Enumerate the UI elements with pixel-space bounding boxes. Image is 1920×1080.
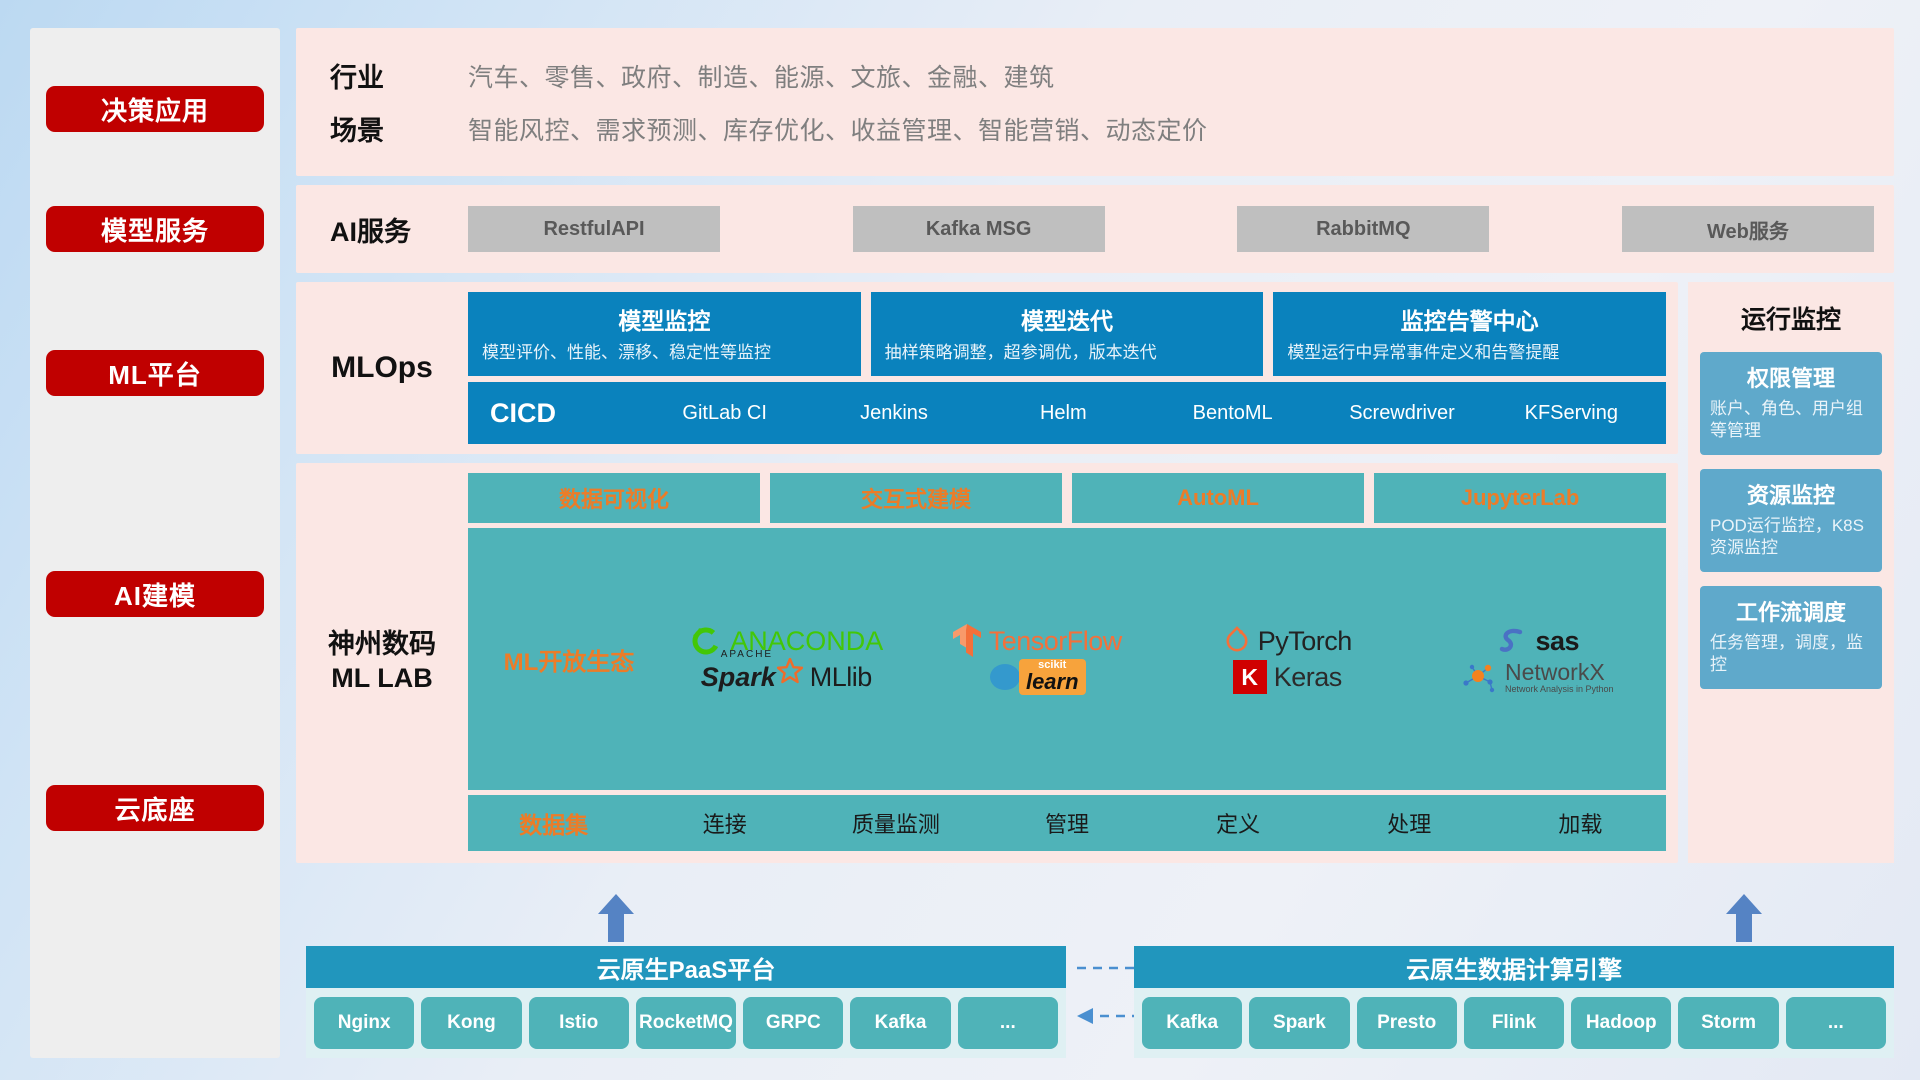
service-chip-kafka-msg[interactable]: Kafka MSG [853, 206, 1105, 252]
platform-left: MLOps 模型监控 模型评价、性能、漂移、稳定性等监控 模型迭代 抽样策略调整… [296, 282, 1678, 863]
main-column: 行业 汽车、零售、政府、制造、能源、文旅、金融、建筑 场景 智能风控、需求预测、… [296, 28, 1894, 1058]
scikit-learn-badge: scikit learn [1019, 659, 1086, 695]
logo-text: MLlib [810, 662, 872, 693]
engine-chip-presto[interactable]: Presto [1357, 997, 1457, 1049]
paas-chip-kafka[interactable]: Kafka [850, 997, 950, 1049]
cicd-label: CICD [490, 398, 640, 429]
card-desc: 账户、角色、用户组等管理 [1710, 398, 1872, 443]
logo-sas[interactable]: sas [1496, 625, 1579, 657]
paas-title: 云原生PaaS平台 [306, 946, 1066, 988]
ai-service-band: AI服务 RestfulAPI Kafka MSG RabbitMQ Web服务 [296, 185, 1894, 273]
tool-chip-data-visualization[interactable]: 数据可视化 [468, 473, 760, 523]
ml-lab-tool-row: 数据可视化 交互式建模 AutoML JupyterLab [468, 473, 1666, 523]
ml-open-ecosystem: ML开放生态 ANACONDA [468, 528, 1666, 790]
paas-chip-istio[interactable]: Istio [529, 997, 629, 1049]
sas-icon [1496, 625, 1528, 657]
dataset-item-quality-monitoring[interactable]: 质量监测 [810, 807, 981, 839]
paas-chip-grpc[interactable]: GRPC [743, 997, 843, 1049]
logo-text: PyTorch [1258, 626, 1352, 657]
rail-item-cloud-base[interactable]: 云底座 [46, 785, 264, 831]
mlops-label: MLOps [296, 292, 468, 444]
service-chip-rabbitmq[interactable]: RabbitMQ [1237, 206, 1489, 252]
anaconda-icon [689, 624, 723, 658]
scikit-blob-icon [988, 662, 1022, 692]
cicd-row: CICD GitLab CI Jenkins Helm BentoML Scre… [468, 382, 1666, 444]
card-title: 模型迭代 [885, 302, 1250, 336]
dataset-label: 数据集 [468, 806, 639, 840]
rail-label: 决策应用 [101, 91, 209, 128]
paas-chip-nginx[interactable]: Nginx [314, 997, 414, 1049]
ai-service-label: AI服务 [330, 210, 468, 249]
card-title: 模型监控 [482, 302, 847, 336]
paas-chip-rocketmq[interactable]: RocketMQ [636, 997, 736, 1049]
service-chip-web[interactable]: Web服务 [1622, 206, 1874, 252]
cicd-tool-kfserving[interactable]: KFServing [1487, 403, 1656, 424]
spark-text: Spark [701, 662, 776, 692]
decision-app-band: 行业 汽车、零售、政府、制造、能源、文旅、金融、建筑 场景 智能风控、需求预测、… [296, 28, 1894, 176]
engine-chip-storm[interactable]: Storm [1678, 997, 1778, 1049]
tool-chip-interactive-modeling[interactable]: 交互式建模 [770, 473, 1062, 523]
architecture-diagram: 决策应用 模型服务 ML平台 AI建模 云底座 行业 汽车、零售、政府、制造、能… [0, 0, 1920, 1080]
mlops-content: 模型监控 模型评价、性能、漂移、稳定性等监控 模型迭代 抽样策略调整，超参调优，… [468, 292, 1666, 444]
paas-chip-kong[interactable]: Kong [421, 997, 521, 1049]
scene-value: 智能风控、需求预测、库存优化、收益管理、智能营销、动态定价 [468, 111, 1208, 147]
rail-label: 模型服务 [101, 211, 209, 248]
rail-item-model-service[interactable]: 模型服务 [46, 206, 264, 252]
industry-label: 行业 [330, 56, 468, 95]
industry-row: 行业 汽车、零售、政府、制造、能源、文旅、金融、建筑 [330, 56, 1894, 95]
cloud-foundation-area: 云原生PaaS平台 Nginx Kong Istio RocketMQ GRPC… [296, 872, 1894, 1058]
monitoring-title: 运行监控 [1700, 300, 1882, 336]
logo-text: TensorFlow [989, 626, 1122, 657]
dataset-row: 数据集 连接 质量监测 管理 定义 处理 加载 [468, 795, 1666, 851]
networkx-subtitle: Network Analysis in Python [1505, 685, 1614, 694]
logo-text: sas [1535, 626, 1579, 657]
ecosystem-logo-grid: ANACONDA TensorFlow [664, 623, 1660, 695]
data-engine-chip-list: Kafka Spark Presto Flink Hadoop Storm ..… [1134, 988, 1894, 1058]
cicd-tool-bentoml[interactable]: BentoML [1148, 403, 1317, 424]
logo-text: Keras [1274, 662, 1342, 693]
logo-text: learn [1026, 671, 1079, 693]
mlops-band: MLOps 模型监控 模型评价、性能、漂移、稳定性等监控 模型迭代 抽样策略调整… [296, 282, 1678, 454]
card-desc: 模型评价、性能、漂移、稳定性等监控 [482, 342, 847, 364]
cicd-tool-screwdriver[interactable]: Screwdriver [1317, 403, 1486, 424]
logo-anaconda[interactable]: ANACONDA [689, 624, 883, 658]
engine-chip-spark[interactable]: Spark [1249, 997, 1349, 1049]
cicd-tool-gitlab-ci[interactable]: GitLab CI [640, 403, 809, 424]
cicd-tool-helm[interactable]: Helm [979, 403, 1148, 424]
mlops-card-alert-center[interactable]: 监控告警中心 模型运行中异常事件定义和告警提醒 [1273, 292, 1666, 376]
card-desc: POD运行监控，K8S资源监控 [1710, 515, 1872, 560]
card-desc: 模型运行中异常事件定义和告警提醒 [1287, 342, 1652, 364]
runtime-monitoring-column: 运行监控 权限管理 账户、角色、用户组等管理 资源监控 POD运行监控，K8S资… [1688, 282, 1894, 863]
logo-spark-mllib[interactable]: APACHE Spark MLlib [701, 662, 872, 693]
networkx-icon [1462, 661, 1498, 693]
card-title: 监控告警中心 [1287, 302, 1652, 336]
up-arrow-icon-data-engine [1724, 894, 1764, 942]
card-title: 资源监控 [1710, 478, 1872, 510]
rail-item-ml-platform[interactable]: ML平台 [46, 350, 264, 396]
dataset-item-load[interactable]: 加载 [1495, 807, 1666, 839]
engine-chip-flink[interactable]: Flink [1464, 997, 1564, 1049]
engine-chip-hadoop[interactable]: Hadoop [1571, 997, 1671, 1049]
engine-chip-kafka[interactable]: Kafka [1142, 997, 1242, 1049]
ml-lab-label-line2: ML LAB [331, 662, 433, 696]
dataset-item-define[interactable]: 定义 [1153, 807, 1324, 839]
dataset-item-connect[interactable]: 连接 [639, 807, 810, 839]
spark-wordmark: APACHE Spark [701, 662, 776, 693]
ml-lab-content: 数据可视化 交互式建模 AutoML JupyterLab ML开放生态 [468, 473, 1666, 851]
dataset-item-manage[interactable]: 管理 [981, 807, 1152, 839]
service-chip-restfulapi[interactable]: RestfulAPI [468, 206, 720, 252]
monitor-card-workflow[interactable]: 工作流调度 任务管理，调度，监控 [1700, 586, 1882, 689]
networkx-wordmark: NetworkX Network Analysis in Python [1505, 660, 1614, 694]
ml-lab-label: 神州数码 ML LAB [296, 473, 468, 851]
mlops-card-model-monitoring[interactable]: 模型监控 模型评价、性能、漂移、稳定性等监控 [468, 292, 861, 376]
monitor-card-resource[interactable]: 资源监控 POD运行监控，K8S资源监控 [1700, 469, 1882, 572]
cicd-tool-list: GitLab CI Jenkins Helm BentoML Screwdriv… [640, 403, 1656, 424]
tool-chip-jupyterlab[interactable]: JupyterLab [1374, 473, 1666, 523]
ai-service-chip-list: RestfulAPI Kafka MSG RabbitMQ Web服务 [468, 206, 1874, 252]
logo-text: NetworkX [1505, 660, 1614, 684]
industry-value: 汽车、零售、政府、制造、能源、文旅、金融、建筑 [468, 58, 1055, 94]
card-title: 权限管理 [1710, 361, 1872, 393]
rail-label: 云底座 [114, 790, 195, 827]
card-desc: 抽样策略调整，超参调优，版本迭代 [885, 342, 1250, 364]
dataset-item-process[interactable]: 处理 [1324, 807, 1495, 839]
data-engine-title: 云原生数据计算引擎 [1134, 946, 1894, 988]
card-title: 工作流调度 [1710, 595, 1872, 627]
cicd-tool-jenkins[interactable]: Jenkins [809, 403, 978, 424]
spark-apache-text: APACHE [721, 649, 773, 660]
rail-item-ai-modeling[interactable]: AI建模 [46, 571, 264, 617]
rail-label: AI建模 [114, 576, 196, 613]
data-engine-block: 云原生数据计算引擎 Kafka Spark Presto Flink Hadoo… [1134, 946, 1894, 1058]
monitor-card-permission[interactable]: 权限管理 账户、角色、用户组等管理 [1700, 352, 1882, 455]
keras-icon: K [1233, 660, 1267, 694]
tensorflow-icon [952, 623, 982, 659]
scene-label: 场景 [330, 109, 468, 148]
scene-row: 场景 智能风控、需求预测、库存优化、收益管理、智能营销、动态定价 [330, 109, 1894, 148]
rail-label: ML平台 [108, 355, 202, 392]
rail-item-decision-app[interactable]: 决策应用 [46, 86, 264, 132]
spark-star-icon [777, 658, 803, 684]
card-desc: 任务管理，调度，监控 [1710, 632, 1872, 677]
tool-chip-automl[interactable]: AutoML [1072, 473, 1364, 523]
mlops-card-model-iteration[interactable]: 模型迭代 抽样策略调整，超参调优，版本迭代 [871, 292, 1264, 376]
ml-lab-label-line1: 神州数码 [328, 628, 436, 662]
engine-chip-more[interactable]: ... [1786, 997, 1886, 1049]
logo-tensorflow[interactable]: TensorFlow [952, 623, 1122, 659]
logo-networkx[interactable]: NetworkX Network Analysis in Python [1462, 660, 1614, 694]
pytorch-icon [1223, 624, 1251, 658]
ml-lab-band: 神州数码 ML LAB 数据可视化 交互式建模 AutoML JupyterLa… [296, 463, 1678, 863]
up-arrow-icon-paas [596, 894, 636, 942]
platform-area: MLOps 模型监控 模型评价、性能、漂移、稳定性等监控 模型迭代 抽样策略调整… [296, 282, 1894, 863]
paas-platform-block: 云原生PaaS平台 Nginx Kong Istio RocketMQ GRPC… [306, 946, 1066, 1058]
layer-rail: 决策应用 模型服务 ML平台 AI建模 云底座 [30, 28, 280, 1058]
logo-scikit-learn[interactable]: scikit learn [988, 659, 1086, 695]
logo-pytorch[interactable]: PyTorch [1223, 624, 1352, 658]
mlops-card-list: 模型监控 模型评价、性能、漂移、稳定性等监控 模型迭代 抽样策略调整，超参调优，… [468, 292, 1666, 376]
ecosystem-label: ML开放生态 [474, 642, 664, 677]
paas-chip-more[interactable]: ... [958, 997, 1058, 1049]
paas-chip-list: Nginx Kong Istio RocketMQ GRPC Kafka ... [306, 988, 1066, 1058]
logo-keras[interactable]: K Keras [1233, 660, 1342, 694]
